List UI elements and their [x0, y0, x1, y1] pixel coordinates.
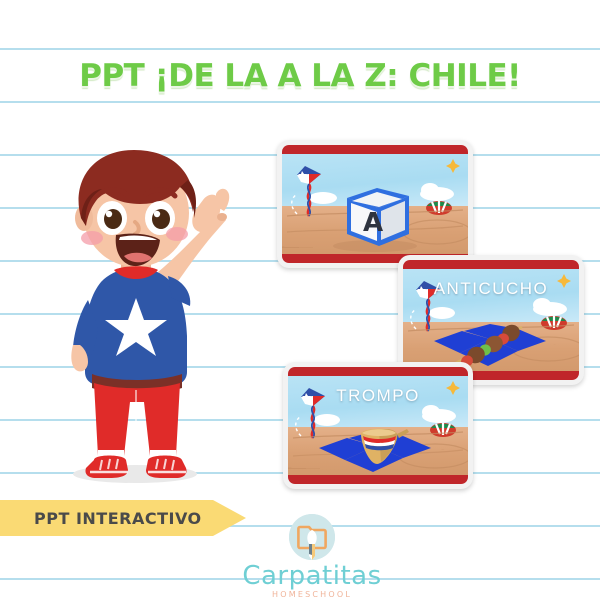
brand-subtitle: HOMESCHOOL	[242, 590, 382, 599]
pointing-boy-illustration	[40, 140, 240, 485]
card-top-bar	[403, 260, 579, 269]
card-top-bar	[288, 367, 468, 376]
ppt-interactivo-banner[interactable]: PPT INTERACTIVO	[0, 500, 246, 536]
poster-canvas: PPT ¡DE LA A LA Z: CHILE!	[0, 0, 600, 600]
letter-cube: A	[347, 188, 409, 246]
rule-line-0	[0, 48, 600, 50]
card-scene	[403, 269, 579, 371]
chilean-kite	[411, 281, 440, 331]
card-top-bar	[282, 145, 468, 154]
card-inner: TROMPO	[288, 367, 468, 484]
trompo-decor	[430, 423, 456, 437]
brand-name: Carpatitas	[242, 561, 382, 591]
folder-pencil-icon	[289, 514, 335, 560]
svg-text:A: A	[363, 208, 383, 238]
banner-label: PPT INTERACTIVO	[34, 509, 202, 528]
trompo-decor	[541, 316, 567, 330]
card-inner: A	[282, 145, 468, 263]
chilean-kite	[292, 166, 321, 216]
trompo-decor	[426, 201, 452, 215]
rule-line-1	[0, 101, 600, 103]
page-title: PPT ¡DE LA A LA Z: CHILE!	[0, 58, 600, 94]
slide-card-trompo[interactable]: TROMPO	[283, 362, 473, 489]
card-scene: A	[282, 154, 468, 254]
chilean-kite	[296, 388, 325, 438]
card-scene	[288, 376, 468, 475]
card-bottom-bar	[288, 475, 468, 484]
slide-card-letter-a[interactable]: A	[277, 140, 473, 268]
brand-logo[interactable]: Carpatitas HOMESCHOOL	[242, 514, 382, 600]
